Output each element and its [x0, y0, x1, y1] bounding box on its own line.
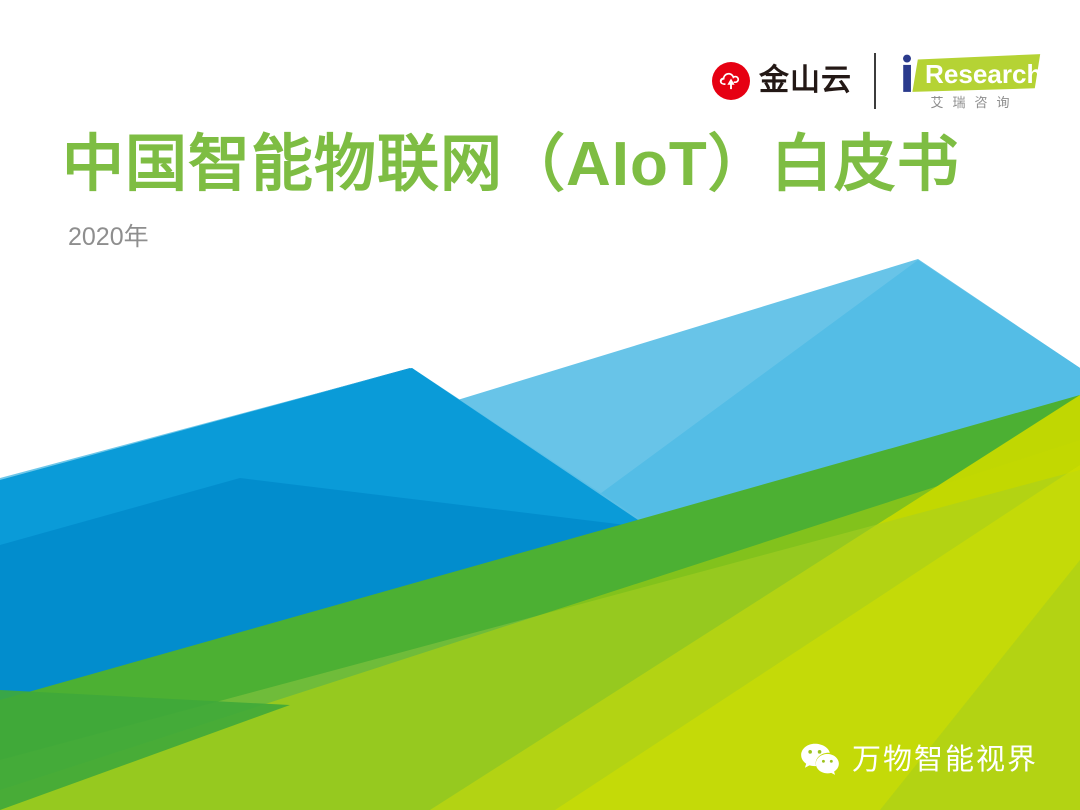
iresearch-name-cn: 艾瑞咨询	[921, 96, 1018, 109]
kingsoft-cloud-logo: 金山云	[712, 62, 852, 100]
wechat-watermark: 万物智能视界	[799, 742, 1038, 778]
title-block: 中国智能物联网（AIoT）白皮书 2020年	[62, 131, 960, 250]
iresearch-logo-icon: Research	[898, 52, 1042, 94]
page-subtitle: 2020年	[68, 225, 960, 250]
watermark-label: 万物智能视界	[852, 746, 1038, 775]
svg-text:Research: Research	[925, 59, 1042, 89]
polygonal-mountain-graphic	[0, 0, 1080, 810]
kingsoft-cloud-icon	[712, 62, 750, 100]
wechat-icon	[799, 742, 841, 778]
page-title: 中国智能物联网（AIoT）白皮书	[62, 131, 960, 199]
kingsoft-cloud-name: 金山云	[759, 66, 852, 96]
iresearch-logo: Research 艾瑞咨询	[898, 52, 1042, 109]
logo-divider	[874, 53, 876, 109]
cover-page: 金山云 Research 艾瑞咨询 中国智能物联网（AIoT）白皮书 2020年	[0, 0, 1080, 810]
logo-bar: 金山云 Research 艾瑞咨询	[712, 52, 1042, 109]
